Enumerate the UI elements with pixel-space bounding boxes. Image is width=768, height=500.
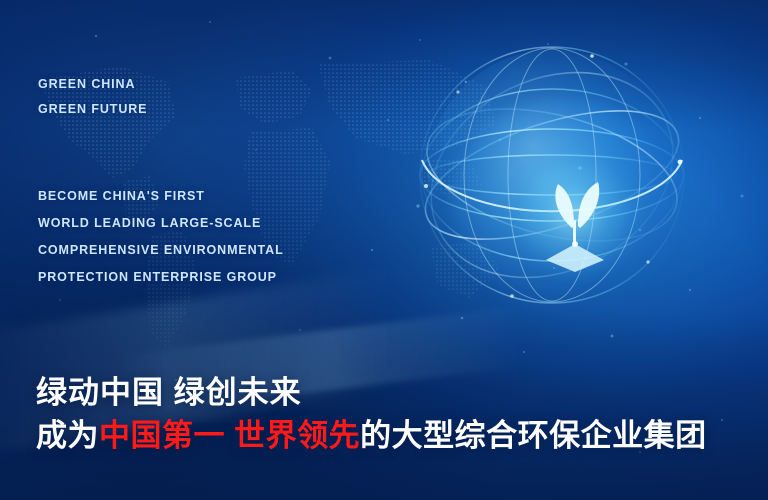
english-top-line-2: GREEN FUTURE <box>38 97 147 122</box>
chinese-headline-line-2: 成为中国第一 世界领先的大型综合环保企业集团 <box>36 414 707 458</box>
chinese-headline-suffix: 的大型综合环保企业集团 <box>360 418 707 453</box>
english-tagline-top: GREEN CHINA GREEN FUTURE <box>38 72 147 122</box>
chinese-headline-line-1: 绿动中国 绿创未来 <box>36 372 707 414</box>
chinese-headline-block: 绿动中国 绿创未来 成为中国第一 世界领先的大型综合环保企业集团 <box>36 372 707 458</box>
english-slogan-line-1: BECOME CHINA'S FIRST <box>38 183 284 210</box>
english-slogan-line-4: PROTECTION ENTERPRISE GROUP <box>38 264 284 291</box>
english-slogan-line-3: COMPREHENSIVE ENVIRONMENTAL <box>38 237 284 264</box>
english-slogan-line-2: WORLD LEADING LARGE-SCALE <box>38 210 284 237</box>
chinese-headline-accent: 中国第一 世界领先 <box>99 418 360 453</box>
english-top-line-1: GREEN CHINA <box>38 72 147 97</box>
hero-banner: GREEN CHINA GREEN FUTURE BECOME CHINA'S … <box>0 0 768 500</box>
chinese-headline-prefix: 成为 <box>36 418 99 453</box>
sprout-seedling-icon <box>500 140 650 290</box>
english-slogan-block: BECOME CHINA'S FIRST WORLD LEADING LARGE… <box>38 183 284 291</box>
